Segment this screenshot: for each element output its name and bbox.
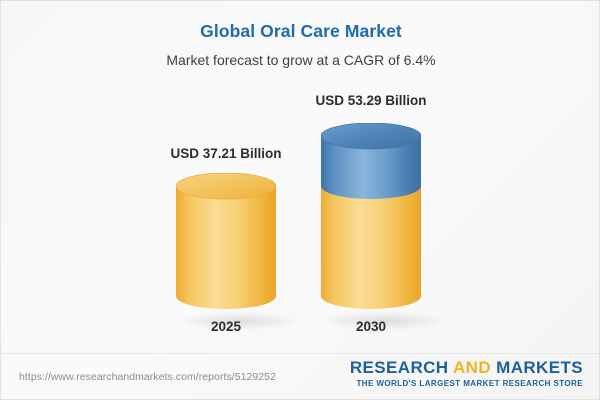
chart-plot-area: USD 37.21 Billion: [1, 81, 600, 346]
bar-cylinder-2025: [176, 173, 276, 309]
bar-group-2025: USD 37.21 Billion: [146, 81, 306, 346]
infographic-card: Global Oral Care Market Market forecast …: [0, 0, 600, 400]
brand-wordmark: RESEARCH AND MARKETS: [350, 359, 583, 377]
brand-word-markets: MARKETS: [496, 358, 583, 377]
chart-subtitle: Market forecast to grow at a CAGR of 6.4…: [1, 52, 600, 68]
bar-value-label-2025: USD 37.21 Billion: [146, 146, 306, 161]
brand-word-and: AND: [453, 358, 491, 377]
brand-tagline: THE WORLD'S LARGEST MARKET RESEARCH STOR…: [350, 379, 583, 388]
bar-category-label-2025: 2025: [146, 319, 306, 334]
bar-category-label-2030: 2030: [291, 319, 451, 334]
source-url-link[interactable]: https://www.researchandmarkets.com/repor…: [19, 371, 276, 383]
brand-word-research: RESEARCH: [350, 358, 449, 377]
page-title: Global Oral Care Market: [1, 21, 600, 42]
brand-logo: RESEARCH AND MARKETS THE WORLD'S LARGEST…: [350, 359, 583, 388]
bar-group-2030: USD 53.29 Billion: [291, 81, 451, 346]
bar-cylinder-2030: [321, 123, 421, 309]
bar-value-label-2030: USD 53.29 Billion: [291, 93, 451, 108]
footer-divider: [1, 353, 600, 354]
